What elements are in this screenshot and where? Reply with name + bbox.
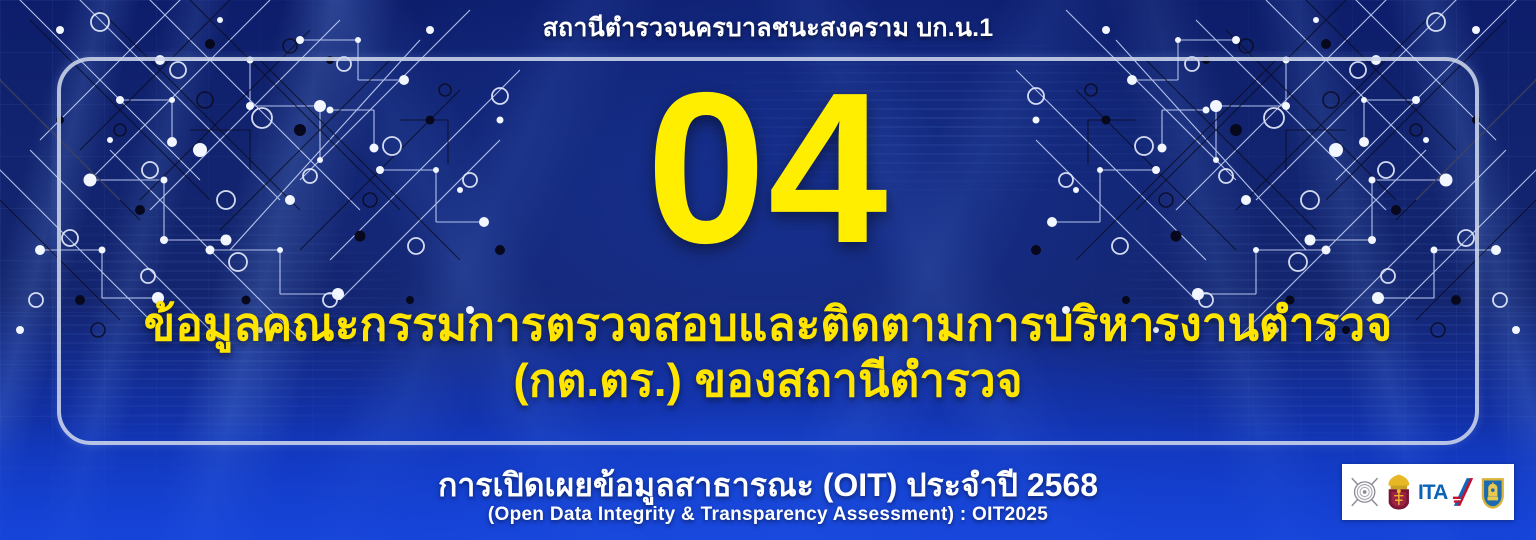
ita-swoosh-icon <box>1452 475 1474 509</box>
page-title: ข้อมูลคณะกรรมการตรวจสอบและติดตามการบริหา… <box>60 296 1476 408</box>
ita-logo-strip: ITA <box>1342 464 1514 520</box>
royal-thai-police-garuda-emblem-icon <box>1385 472 1413 512</box>
headline-line-2: (กต.ตร.) ของสถานีตำรวจ <box>60 352 1476 408</box>
oit-title-english: (Open Data Integrity & Transparency Asse… <box>0 504 1536 526</box>
station-name: สถานีตำรวจนครบาลชนะสงคราม บก.น.1 <box>0 8 1536 48</box>
oit-banner: สถานีตำรวจนครบาลชนะสงคราม บก.น.1 04 ข้อม… <box>0 0 1536 540</box>
headline-line-1: ข้อมูลคณะกรรมการตรวจสอบและติดตามการบริหา… <box>144 298 1392 350</box>
police-shield-emblem-icon <box>1479 472 1507 512</box>
item-number: 04 <box>0 60 1536 275</box>
nacc-circular-emblem-icon <box>1349 473 1380 511</box>
ita-wordmark: ITA <box>1418 482 1447 503</box>
